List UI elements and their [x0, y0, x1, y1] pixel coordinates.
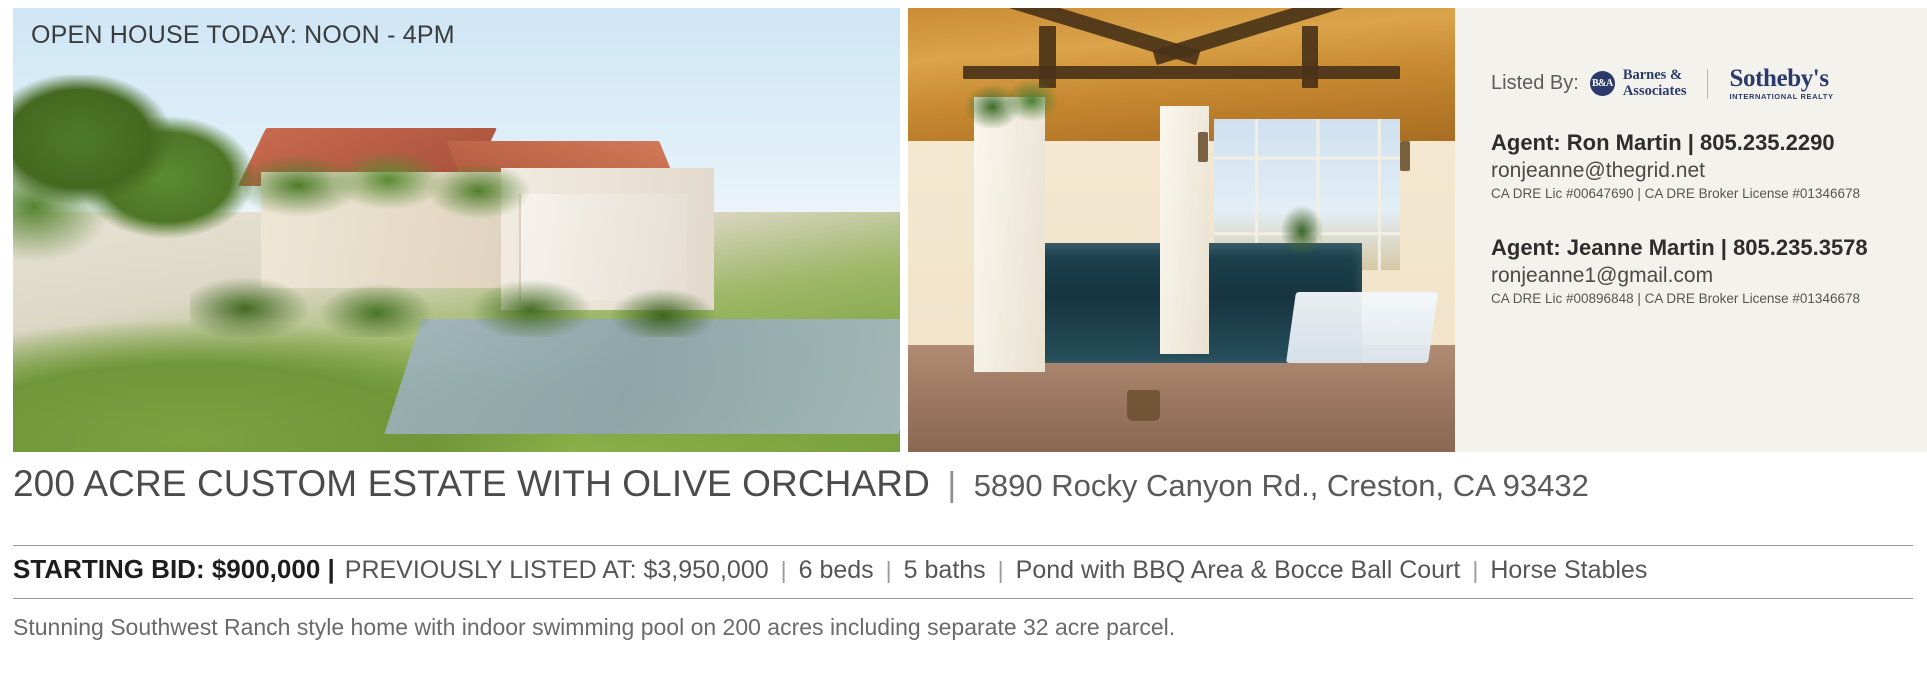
- sothebys-logo[interactable]: Sotheby's INTERNATIONAL REALTY: [1729, 66, 1833, 101]
- feature-beds: 6 beds: [799, 556, 874, 585]
- logo-divider: [1707, 69, 1708, 99]
- vine-foliage: [244, 141, 546, 230]
- feature-separator: |: [986, 557, 1016, 584]
- bid-and-features-row: STARTING BID: $900,000 | PREVIOUSLY LIST…: [13, 554, 1913, 585]
- agent-license-text: CA DRE Lic #00896848 | CA DRE Broker Lic…: [1491, 291, 1927, 306]
- lounge-chair: [1286, 292, 1438, 363]
- agent-email[interactable]: ronjeanne1@gmail.com: [1491, 262, 1927, 289]
- agent-name-and-phone[interactable]: Agent: Jeanne Martin | 805.235.3578: [1491, 235, 1927, 262]
- ceiling-beam: [1302, 26, 1318, 88]
- listing-headline: 200 ACRE CUSTOM ESTATE WITH OLIVE ORCHAR…: [13, 463, 1913, 505]
- wicker-basket: [1127, 390, 1160, 421]
- potted-plant: [963, 75, 1061, 128]
- potted-plant: [1269, 203, 1335, 274]
- agent-license-text: CA DRE Lic #00647690 | CA DRE Broker Lic…: [1491, 186, 1927, 201]
- agent-info-panel: Listed By: B&A Barnes & Associates Sothe…: [1455, 8, 1927, 452]
- barnes-name-line1: Barnes &: [1623, 67, 1682, 83]
- divider-below-bid: [13, 598, 1913, 599]
- barnes-wordmark: Barnes & Associates: [1623, 68, 1687, 99]
- divider-above-bid: [13, 545, 1913, 546]
- barnes-associates-logo[interactable]: B&A Barnes & Associates: [1590, 68, 1687, 99]
- page-title: 200 ACRE CUSTOM ESTATE WITH OLIVE ORCHAR…: [13, 463, 930, 504]
- shrub-row: [190, 266, 740, 337]
- wall-sconce: [1198, 132, 1208, 162]
- wall-sconce: [1400, 141, 1410, 171]
- support-column: [974, 97, 1045, 372]
- listed-by-row: Listed By: B&A Barnes & Associates Sothe…: [1455, 66, 1927, 101]
- indoor-pool-photo[interactable]: [908, 8, 1455, 452]
- feature-separator: |: [874, 557, 904, 584]
- oak-tree: [13, 75, 252, 288]
- property-listing-card: OPEN HOUSE TODAY: NOON - 4PM: [0, 0, 1927, 674]
- agent-card-primary: Agent: Ron Martin | 805.235.2290 ronjean…: [1455, 130, 1927, 201]
- property-exterior-photo[interactable]: OPEN HOUSE TODAY: NOON - 4PM: [13, 8, 900, 452]
- feature-baths: 5 baths: [904, 556, 986, 585]
- barnes-name-line2: Associates: [1623, 83, 1687, 99]
- barnes-emblem-icon: B&A: [1590, 71, 1615, 96]
- agent-name-and-phone[interactable]: Agent: Ron Martin | 805.235.2290: [1491, 130, 1927, 157]
- previously-listed-price: PREVIOUSLY LISTED AT: $3,950,000: [345, 556, 769, 585]
- headline-separator: |: [934, 466, 969, 504]
- property-address: 5890 Rocky Canyon Rd., Creston, CA 93432: [974, 468, 1589, 503]
- agent-email[interactable]: ronjeanne@thegrid.net: [1491, 157, 1927, 184]
- sothebys-subtitle: INTERNATIONAL REALTY: [1729, 92, 1833, 101]
- sothebys-wordmark: Sotheby's: [1729, 65, 1828, 92]
- starting-bid: STARTING BID: $900,000 |: [13, 554, 335, 585]
- feature-separator: |: [1460, 557, 1490, 584]
- open-house-banner: OPEN HOUSE TODAY: NOON - 4PM: [31, 21, 455, 50]
- feature-stables: Horse Stables: [1490, 556, 1647, 585]
- agent-card-secondary: Agent: Jeanne Martin | 805.235.3578 ronj…: [1455, 235, 1927, 306]
- property-description: Stunning Southwest Ranch style home with…: [13, 614, 1913, 641]
- feature-separator: |: [769, 557, 799, 584]
- listed-by-label: Listed By:: [1491, 72, 1579, 95]
- feature-pond: Pond with BBQ Area & Bocce Ball Court: [1016, 556, 1461, 585]
